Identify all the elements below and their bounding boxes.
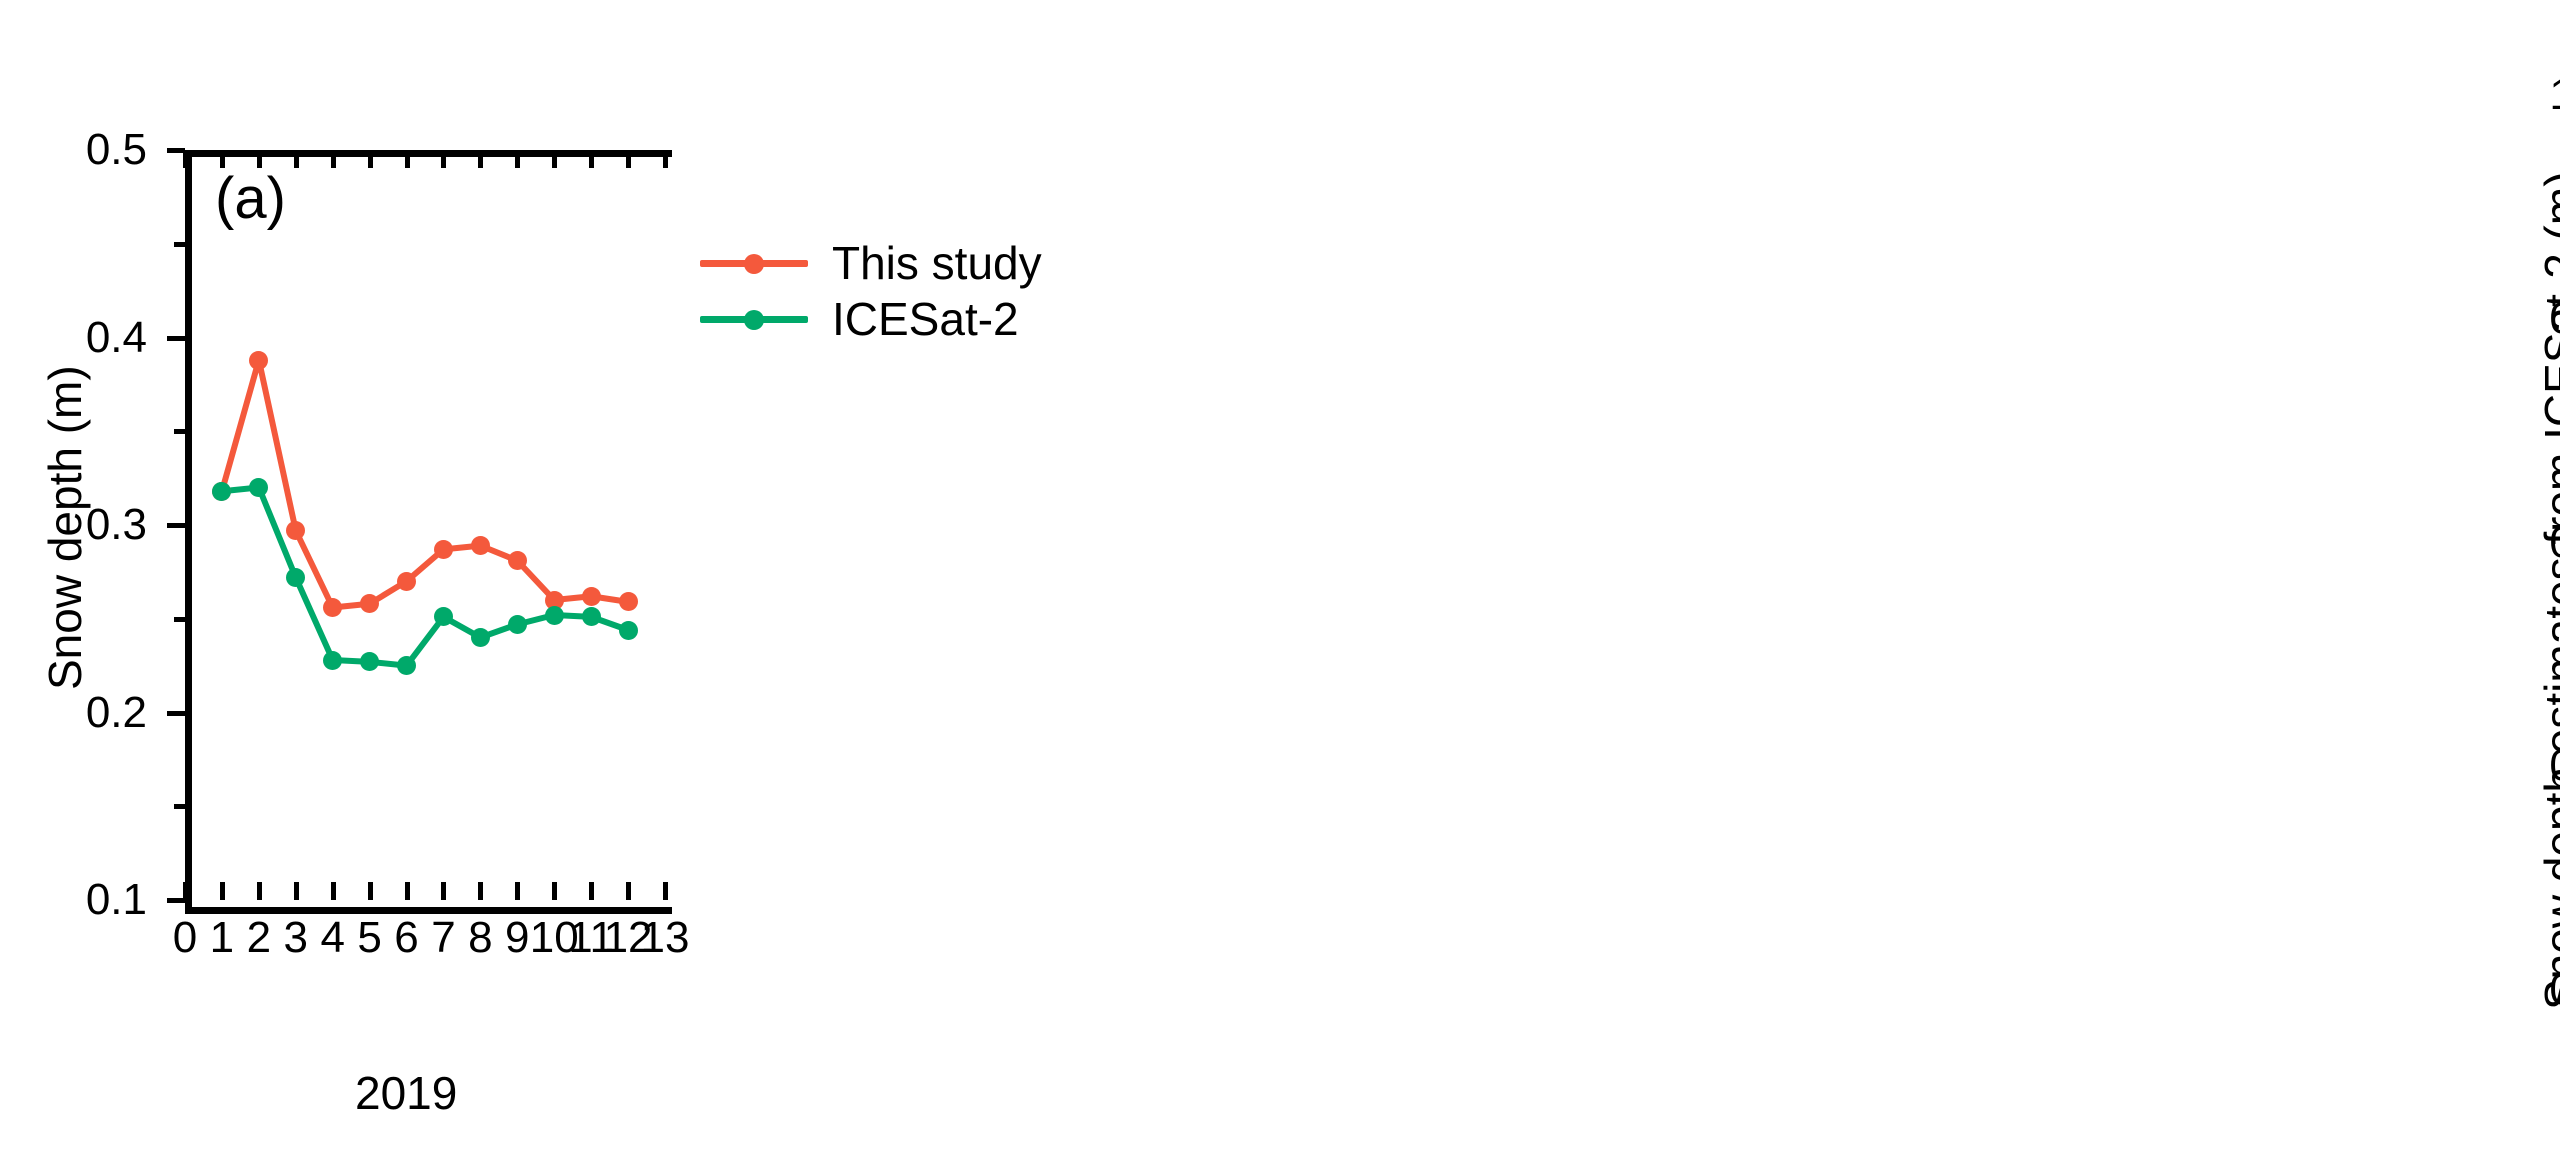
figure-canvas: Snow depth (m) 2019 (a) 0.50.40.30.20.10…	[0, 0, 2560, 1172]
panel-a-x-tick-label: 6	[394, 916, 418, 960]
legend-label-icesat-2: ICESat-2	[832, 296, 1019, 342]
panel-a-y-tick-minor	[174, 617, 185, 622]
panel-a-x-tick-label: 7	[431, 916, 455, 960]
panel-a-x-tick-label: 4	[320, 916, 344, 960]
panel-a-data-point	[545, 606, 564, 625]
legend-swatch-this-study	[700, 253, 808, 273]
legend-item-this-study[interactable]: This study	[700, 235, 1042, 291]
panel-a: Snow depth (m) 2019 (a) 0.50.40.30.20.10…	[0, 0, 1240, 1172]
panel-a-data-point	[249, 351, 268, 370]
legend-label-this-study: This study	[832, 240, 1042, 286]
panel-a-data-point	[471, 536, 490, 555]
panel-a-y-axis-title: Snow depth (m)	[42, 365, 88, 690]
legend-swatch-icesat-2	[700, 309, 808, 329]
panel-a-y-tick-minor	[174, 804, 185, 809]
legend-item-icesat-2[interactable]: ICESat-2	[700, 291, 1042, 347]
panel-a-legend: This study ICESat-2	[700, 235, 1042, 347]
panel-b-y-tick-label: 0.00	[2549, 968, 2560, 1012]
panel-a-y-tick-label: 0.4	[86, 316, 147, 360]
panel-a-x-tick-label: 9	[505, 916, 529, 960]
panel-a-x-tick-label: 2	[247, 916, 271, 960]
panel-a-x-tick-label: 8	[468, 916, 492, 960]
panel-a-data-point	[619, 592, 638, 611]
panel-b-y-tick-label: 0.75	[2549, 297, 2560, 341]
panel-a-data-point	[582, 607, 601, 626]
panel-a-data-point	[582, 587, 601, 606]
panel-a-data-point	[508, 615, 527, 634]
panel-a-series-layer	[185, 150, 665, 900]
panel-b-y-tick-label: 0.50	[2549, 521, 2560, 565]
panel-a-x-tick-label: 1	[210, 916, 234, 960]
panel-a-series-icesat-2	[222, 488, 628, 666]
panel-a-y-tick-major	[167, 336, 185, 341]
panel-a-x-tick-label: 5	[357, 916, 381, 960]
panel-a-y-tick-label: 0.5	[86, 128, 147, 172]
panel-a-y-tick-major	[167, 711, 185, 716]
panel-a-y-tick-label: 0.2	[86, 691, 147, 735]
panel-a-y-tick-minor	[174, 242, 185, 247]
panel-a-y-tick-label: 0.3	[86, 503, 147, 547]
panel-b: Snow depth estimates from ICESat-2 (m) S…	[1240, 0, 2560, 1172]
panel-a-y-tick-label: 0.1	[86, 878, 147, 922]
panel-a-y-tick-major	[167, 523, 185, 528]
panel-a-data-point	[323, 651, 342, 670]
panel-a-y-tick-minor	[174, 429, 185, 434]
panel-b-y-tick-label: 1.00	[2549, 73, 2560, 117]
panel-a-data-point	[397, 572, 416, 591]
panel-b-y-tick-label: 0.25	[2549, 744, 2560, 788]
panel-a-x-axis-title: 2019	[355, 1070, 457, 1116]
panel-a-data-point	[508, 551, 527, 570]
panel-a-x-tick-label: 13	[641, 916, 690, 960]
panel-a-series-this-study	[222, 360, 628, 608]
panel-a-data-point	[471, 628, 490, 647]
panel-a-data-point	[434, 540, 453, 559]
panel-a-x-tick-label: 0	[173, 916, 197, 960]
panel-a-x-tick-label: 3	[284, 916, 308, 960]
panel-a-data-point	[619, 621, 638, 640]
